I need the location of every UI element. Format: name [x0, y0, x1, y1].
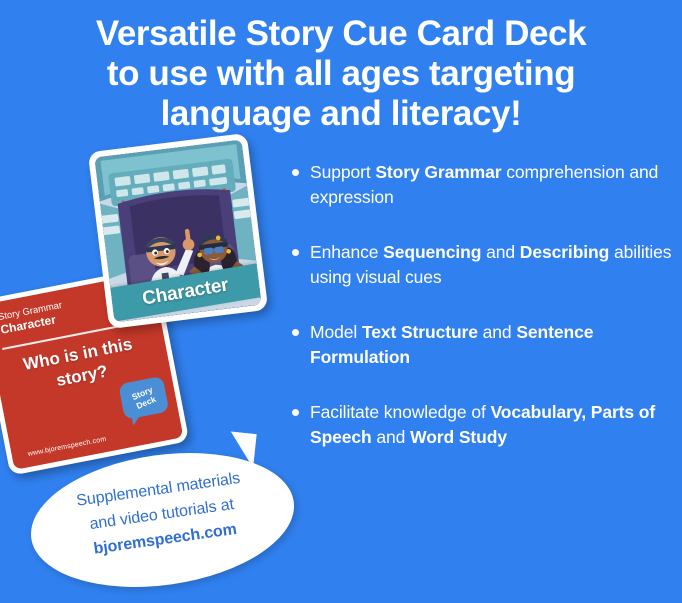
card-website-url: www.bjoremspeech.com — [27, 436, 107, 458]
feature-bullet-list: Support Story Grammar comprehension and … — [292, 160, 682, 480]
card-category: Story Grammar Character — [0, 299, 66, 337]
headline-line-1: Versatile Story Cue Card Deck — [0, 14, 682, 54]
bullet-dot-icon — [292, 169, 299, 176]
bullet-bold-1: Sequencing — [383, 242, 481, 262]
bullet-lead: Support — [310, 162, 375, 182]
character-illustration: Character — [94, 140, 261, 323]
list-item: Enhance Sequencing and Describing abilit… — [292, 240, 682, 290]
bullet-dot-icon — [292, 409, 299, 416]
bullet-mid: and — [481, 242, 519, 262]
character-illustration-card: Character — [88, 133, 269, 329]
bullet-lead: Enhance — [310, 242, 383, 262]
headline-line-2: to use with all ages targeting — [0, 54, 682, 94]
bullet-bold-1: Story Grammar — [375, 162, 501, 182]
bullet-text: Enhance Sequencing and Describing abilit… — [310, 240, 682, 290]
list-item: Support Story Grammar comprehension and … — [292, 160, 682, 210]
story-deck-badge-label: StoryDeck — [130, 384, 158, 411]
bullet-bold-2: Word Study — [410, 427, 507, 447]
page-title: Versatile Story Cue Card Deck to use wit… — [0, 14, 682, 134]
bullet-mid: and — [478, 322, 516, 342]
bullet-bold-1: Text Structure — [362, 322, 478, 342]
bullet-lead: Facilitate knowledge of — [310, 402, 490, 422]
bullet-text: Model Text Structure and Sentence Formul… — [310, 320, 682, 370]
bullet-dot-icon — [292, 249, 299, 256]
bullet-mid: and — [372, 427, 410, 447]
bullet-lead: Model — [310, 322, 362, 342]
bullet-dot-icon — [292, 329, 299, 336]
list-item: Model Text Structure and Sentence Formul… — [292, 320, 682, 370]
story-deck-badge: StoryDeck — [118, 376, 169, 420]
bullet-text: Facilitate knowledge of Vocabulary, Part… — [310, 400, 682, 450]
headline-line-3: language and literacy! — [0, 94, 682, 134]
bullet-text: Support Story Grammar comprehension and … — [310, 160, 682, 210]
bullet-bold-2: Describing — [520, 242, 609, 262]
list-item: Facilitate knowledge of Vocabulary, Part… — [292, 400, 682, 450]
